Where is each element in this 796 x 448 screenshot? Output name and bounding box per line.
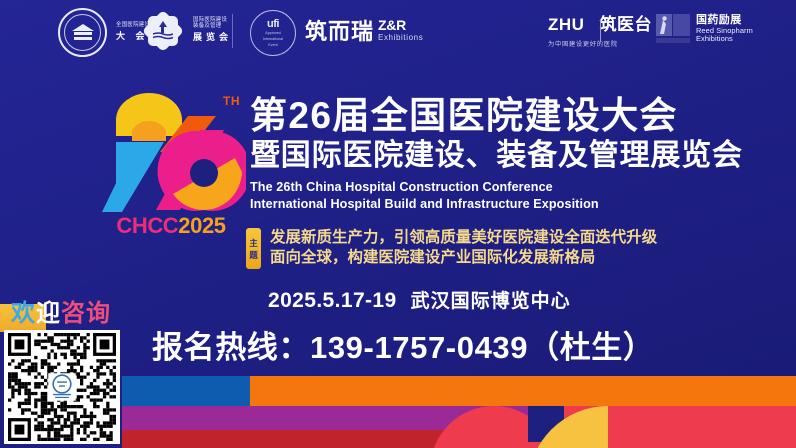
building-seal-icon bbox=[58, 8, 107, 57]
zr-logo-en-sub: Exhibitions bbox=[378, 34, 423, 42]
zhu-logo: ZHU 筑医台 为中国建设更好的医院 bbox=[548, 16, 652, 33]
zhu-logo-divider bbox=[600, 19, 601, 41]
conference-poster: 全国医院建设 大 会 国际医院建设 装备及管理 展览会 bbox=[0, 0, 796, 448]
zr-logo-cn: 筑而瑞 bbox=[305, 21, 374, 43]
sponsor-logo-bar: 全国医院建设 大 会 国际医院建设 装备及管理 展览会 bbox=[0, 0, 796, 70]
theme-badge-char-1: 主 bbox=[249, 237, 257, 249]
zhu-logo-tagline: 为中国建设更好的医院 bbox=[548, 39, 618, 48]
zr-exhibitions-logo: 筑而瑞 Z&R Exhibitions bbox=[305, 18, 423, 43]
theme-badge-char-2: 题 bbox=[249, 249, 257, 261]
theme-line-1: 发展新质生产力，引领高质量美好医院建设全面迭代升级 bbox=[270, 228, 657, 248]
reed-sinopharm-cn: 国药励展 bbox=[696, 15, 753, 27]
ufi-oval-icon: ufi Approved International Event bbox=[250, 10, 296, 56]
chcc-wordmark: CHCC2025 bbox=[96, 215, 246, 237]
title-cn-line-2: 暨国际医院建设、装备及管理展览会 bbox=[250, 138, 710, 173]
ufi-logo: ufi Approved International Event bbox=[250, 10, 294, 54]
ufi-sub-3: Event bbox=[268, 43, 277, 47]
expo-logo-subtitle-2: 装备及管理 bbox=[193, 24, 232, 30]
reed-sinopharm-logo: 国药励展 Reed Sinopharm Exhibitions bbox=[656, 14, 753, 44]
expo-logo-title: 展览会 bbox=[193, 33, 232, 43]
ufi-sub-1: Approved bbox=[265, 31, 280, 35]
snowflake-icon bbox=[140, 8, 185, 53]
qr-contact-block: 欢迎咨询 bbox=[0, 296, 122, 448]
chcc-seal-logo: 全国医院建设 大 会 bbox=[58, 8, 150, 57]
title-cn-line-1: 第26届全国医院建设大会 bbox=[250, 96, 710, 136]
qr-heading-char-2: 迎 bbox=[36, 300, 61, 327]
number-26-icon bbox=[96, 90, 246, 220]
expo-snowflake-logo: 国际医院建设 装备及管理 展览会 bbox=[140, 8, 232, 53]
theme-badge: 主 题 bbox=[246, 228, 261, 269]
zhu-logo-mark: ZHU bbox=[548, 16, 584, 33]
event-venue: 武汉国际博览中心 bbox=[411, 286, 571, 313]
chcc-26-brand-logo: TH CHCC2025 bbox=[96, 90, 246, 260]
qr-heading: 欢迎咨询 bbox=[0, 296, 122, 332]
qr-heading-char-3: 咨 bbox=[61, 300, 86, 327]
ufi-sub-2: International bbox=[263, 37, 283, 41]
qr-code-image[interactable] bbox=[4, 330, 120, 444]
chcc-wordmark-letters: CHCC bbox=[116, 213, 178, 238]
title-en-line-2: International Hospital Build and Infrast… bbox=[250, 196, 710, 212]
chcc-wordmark-year: 2025 bbox=[178, 213, 225, 238]
strip-band-orange bbox=[250, 376, 796, 406]
event-date: 2025.5.17-19 bbox=[268, 289, 397, 313]
reed-sinopharm-en-2: Exhibitions bbox=[696, 35, 753, 43]
theme-line-2: 面向全球，构建医院建设产业国际化发展新格局 bbox=[270, 248, 657, 268]
qr-heading-char-1: 欢 bbox=[11, 300, 36, 327]
theme-block: 主 题 发展新质生产力，引领高质量美好医院建设全面迭代升级 面向全球，构建医院建… bbox=[246, 228, 657, 269]
title-en-line-1: The 26th China Hospital Construction Con… bbox=[250, 179, 710, 195]
logo-divider bbox=[232, 14, 233, 48]
conference-title-block: 第26届全国医院建设大会 暨国际医院建设、装备及管理展览会 The 26th C… bbox=[250, 96, 710, 212]
zhu-logo-cn: 筑医台 bbox=[599, 16, 652, 33]
ufi-title: ufi bbox=[267, 19, 279, 30]
qr-heading-char-4: 询 bbox=[86, 300, 111, 327]
ordinal-superscript: TH bbox=[223, 94, 240, 108]
zr-logo-en-main: Z&R bbox=[378, 18, 423, 32]
date-venue-line: 2025.5.17-19 武汉国际博览中心 bbox=[268, 286, 571, 313]
reed-sinopharm-mark-icon bbox=[656, 14, 690, 44]
registration-hotline: 报名热线：139-1757-0439（杜生） bbox=[152, 322, 772, 367]
